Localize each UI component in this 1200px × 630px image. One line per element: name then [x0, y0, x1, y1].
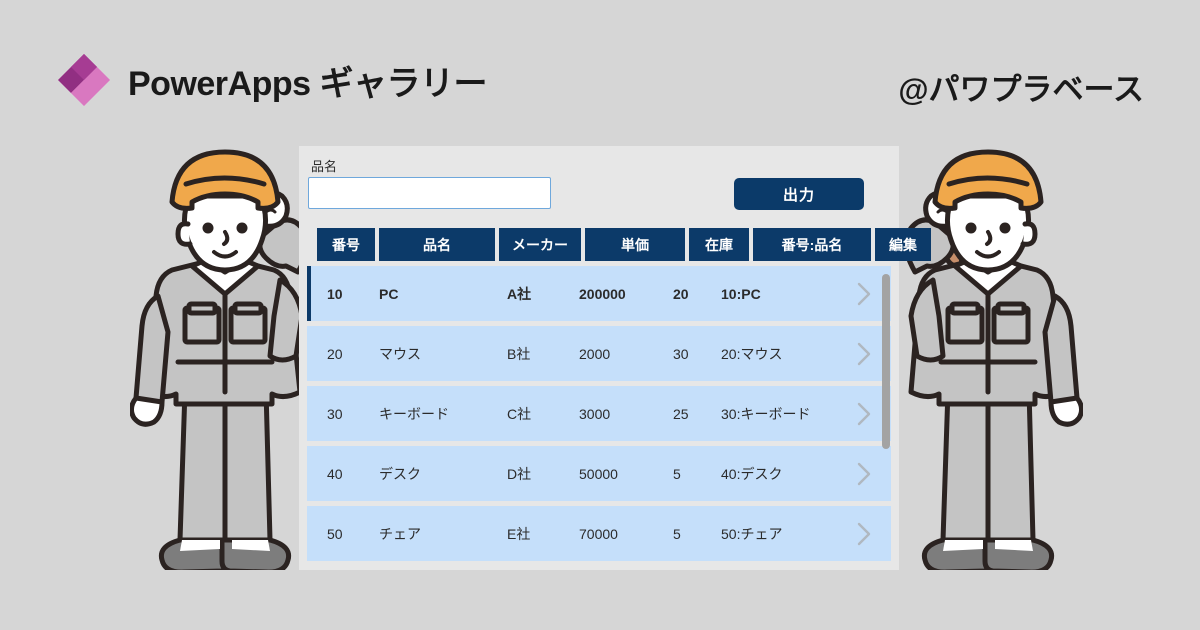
cell-number: 40	[327, 446, 343, 501]
cell-maker: D社	[507, 446, 531, 501]
table-header-label: 番号:品名	[782, 235, 843, 255]
table-row[interactable]: 50チェアE社70000550:チェア	[307, 506, 891, 561]
cell-item: チェア	[379, 506, 421, 561]
cell-maker: A社	[507, 266, 531, 321]
table-header-label: 編集	[889, 235, 917, 255]
cell-stock: 25	[673, 386, 689, 441]
author-handle: @パワプラベース	[898, 64, 1144, 109]
gallery-table: 番号品名メーカー単価在庫番号:品名編集 10PCA社2000002010:PC2…	[299, 228, 899, 561]
table-header-label: 番号	[332, 235, 360, 255]
worker-female-salute-illustration	[893, 140, 1083, 570]
cell-maker: B社	[507, 326, 530, 381]
cell-maker: C社	[507, 386, 531, 441]
cell-item: キーボード	[379, 386, 449, 441]
table-header-maker[interactable]: メーカー	[499, 228, 581, 261]
filter-form: 品名 出力	[299, 146, 899, 228]
cell-number: 50	[327, 506, 343, 561]
chevron-right-icon[interactable]	[855, 506, 873, 561]
app-panel: 品名 出力 番号品名メーカー単価在庫番号:品名編集 10PCA社20000020…	[299, 146, 899, 570]
cell-price: 2000	[579, 326, 610, 381]
table-header-stock[interactable]: 在庫	[689, 228, 749, 261]
table-header-row: 番号品名メーカー単価在庫番号:品名編集	[307, 228, 891, 261]
cell-stock: 20	[673, 266, 689, 321]
table-row[interactable]: 30キーボードC社30002530:キーボード	[307, 386, 891, 441]
cell-item: マウス	[379, 326, 421, 381]
cell-price: 50000	[579, 446, 618, 501]
scrollbar-thumb[interactable]	[882, 274, 890, 449]
cell-stock: 5	[673, 506, 681, 561]
screenshot-canvas: PowerApps ギャラリー @パワプラベース	[0, 0, 1200, 630]
table-header-edit[interactable]: 編集	[875, 228, 931, 261]
cell-stock: 30	[673, 326, 689, 381]
cell-price: 3000	[579, 386, 610, 441]
chevron-right-icon[interactable]	[855, 266, 873, 321]
vertical-scrollbar[interactable]	[882, 266, 890, 576]
table-header-number[interactable]: 番号	[317, 228, 375, 261]
cell-stock: 5	[673, 446, 681, 501]
table-row[interactable]: 20マウスB社20003020:マウス	[307, 326, 891, 381]
cell-number: 10	[327, 266, 343, 321]
powerapps-diamond-icon	[56, 52, 112, 108]
cell-number: 20	[327, 326, 343, 381]
cell-numberitem: 10:PC	[721, 266, 761, 321]
table-header-label: メーカー	[512, 235, 568, 255]
table-header-label: 品名	[423, 235, 451, 255]
table-header-numberitem[interactable]: 番号:品名	[753, 228, 871, 261]
table-body: 10PCA社2000002010:PC20マウスB社20003020:マウス30…	[307, 266, 891, 561]
table-header-label: 単価	[621, 235, 649, 255]
chevron-right-icon[interactable]	[855, 446, 873, 501]
cell-numberitem: 20:マウス	[721, 326, 782, 381]
table-row[interactable]: 40デスクD社50000540:デスク	[307, 446, 891, 501]
cell-price: 200000	[579, 266, 626, 321]
chevron-right-icon[interactable]	[855, 386, 873, 441]
item-name-input[interactable]	[308, 177, 551, 209]
chevron-right-icon[interactable]	[855, 326, 873, 381]
cell-numberitem: 30:キーボード	[721, 386, 810, 441]
table-row[interactable]: 10PCA社2000002010:PC	[307, 266, 891, 321]
table-header-item[interactable]: 品名	[379, 228, 495, 261]
page-title: PowerApps ギャラリー	[128, 56, 487, 105]
cell-item: デスク	[379, 446, 421, 501]
item-name-label: 品名	[311, 156, 337, 175]
brand: PowerApps ギャラリー	[56, 52, 487, 108]
cell-numberitem: 50:チェア	[721, 506, 782, 561]
worker-male-salute-illustration	[130, 140, 320, 570]
output-button[interactable]: 出力	[734, 178, 864, 210]
cell-maker: E社	[507, 506, 530, 561]
cell-price: 70000	[579, 506, 618, 561]
table-header-label: 在庫	[705, 235, 733, 255]
table-header-price[interactable]: 単価	[585, 228, 685, 261]
cell-number: 30	[327, 386, 343, 441]
cell-numberitem: 40:デスク	[721, 446, 782, 501]
cell-item: PC	[379, 266, 398, 321]
